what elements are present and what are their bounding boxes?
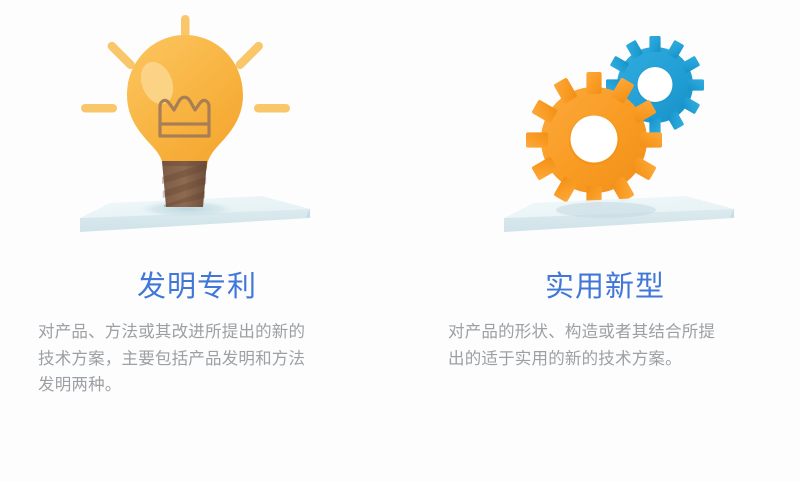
pedestal-contact-shadow-front [556, 202, 656, 218]
ray-upper-right-icon [234, 40, 265, 71]
page-root: 发明专利 对产品、方法或其改进所提出的新的技术方案，主要包括产品发明和方法发明两… [0, 0, 800, 481]
bulb-glass [127, 35, 243, 168]
lightbulb-illustration [56, 0, 356, 250]
lightbulb-icon [56, 0, 356, 250]
card-title-utility-model: 实用新型 [545, 273, 665, 302]
ray-left-icon [81, 104, 117, 113]
ray-upper-left-icon [106, 40, 137, 71]
card-title-invention-patent: 发明专利 [137, 273, 257, 302]
feature-card-utility-model[interactable]: 实用新型 对产品的形状、构造或者其结合所提出的适于实用的新的技术方案。 [400, 0, 800, 481]
ray-right-icon [254, 104, 290, 113]
bulb-screw-base [162, 161, 207, 207]
card-body-invention-patent: 对产品、方法或其改进所提出的新的技术方案，主要包括产品发明和方法发明两种。 [38, 319, 316, 399]
gears-icon [480, 0, 780, 250]
feature-card-invention-patent[interactable]: 发明专利 对产品、方法或其改进所提出的新的技术方案，主要包括产品发明和方法发明两… [0, 0, 400, 481]
feature-cards-row: 发明专利 对产品、方法或其改进所提出的新的技术方案，主要包括产品发明和方法发明两… [0, 0, 800, 481]
card-body-utility-model: 对产品的形状、构造或者其结合所提出的适于实用的新的技术方案。 [448, 319, 726, 372]
pedestal-group [504, 196, 734, 232]
gears-illustration [480, 0, 780, 250]
